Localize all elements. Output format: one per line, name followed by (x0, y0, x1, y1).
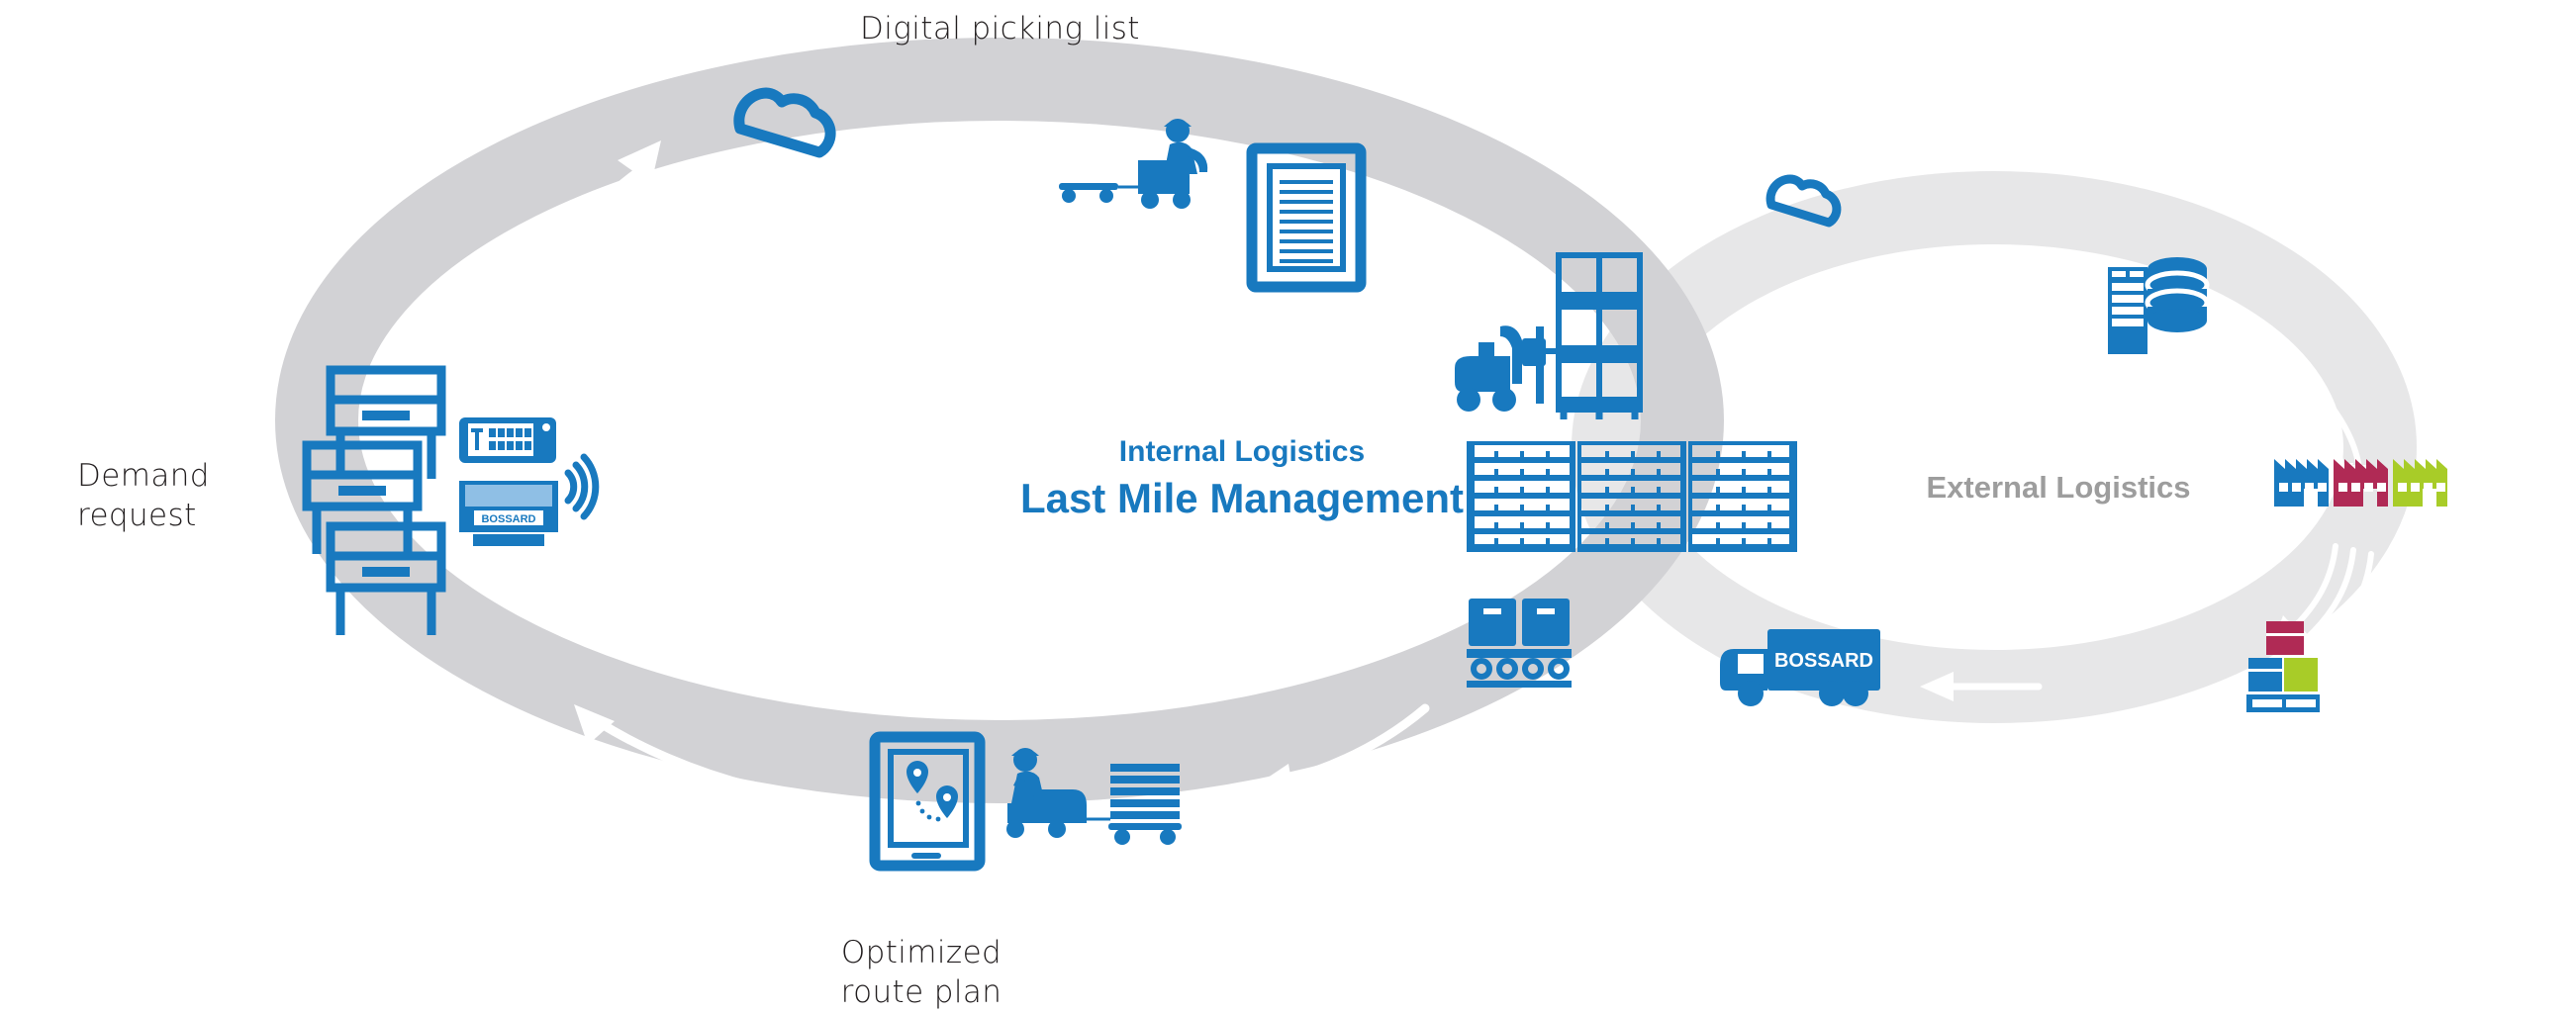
picking-list-document-icon (1252, 148, 1361, 287)
last-mile-management-title: Last Mile Management (1009, 475, 1475, 522)
internal-logistics-subtitle: Internal Logistics (1009, 435, 1475, 469)
label-optimized-route-plan: Optimized route plan (773, 933, 1070, 1012)
external-logistics-ring (1608, 208, 2380, 687)
diagram-canvas: BOSSARD (0, 0, 2576, 1015)
label-route-line1: Optimized (773, 933, 1070, 972)
arrow-external-top (1920, 285, 2045, 315)
smart-bin-icon: BOSSARD (459, 481, 558, 546)
factories-icon (2274, 459, 2447, 507)
arrow-internal-top-straight (947, 164, 1098, 200)
label-demand-line1: Demand (77, 456, 295, 496)
smartbin-device-icon: BOSSARD (459, 417, 596, 546)
label-route-line2: route plan (773, 972, 1070, 1012)
external-logistics-title: External Logistics (1851, 470, 2266, 506)
forklift-icon (1455, 325, 1564, 412)
label-digital-picking-list: Digital picking list (860, 11, 1140, 46)
internal-logistics-title-block: Internal Logistics Last Mile Management (1009, 435, 1475, 522)
smart-label-display-icon (459, 417, 556, 463)
factory-blue-icon (2274, 459, 2329, 507)
label-demand-request: Demand request (77, 456, 295, 535)
arrow-internal-top-right (1395, 228, 1494, 319)
database-icon (2147, 257, 2207, 332)
truck-logo-text: BOSSARD (1774, 650, 1873, 672)
wireless-signal-icon (568, 457, 596, 516)
tugger-train-icon (1059, 119, 1207, 209)
bin-logo-text: BOSSARD (481, 513, 535, 525)
server-database-icon (2108, 257, 2207, 354)
label-demand-line2: request (77, 496, 295, 535)
